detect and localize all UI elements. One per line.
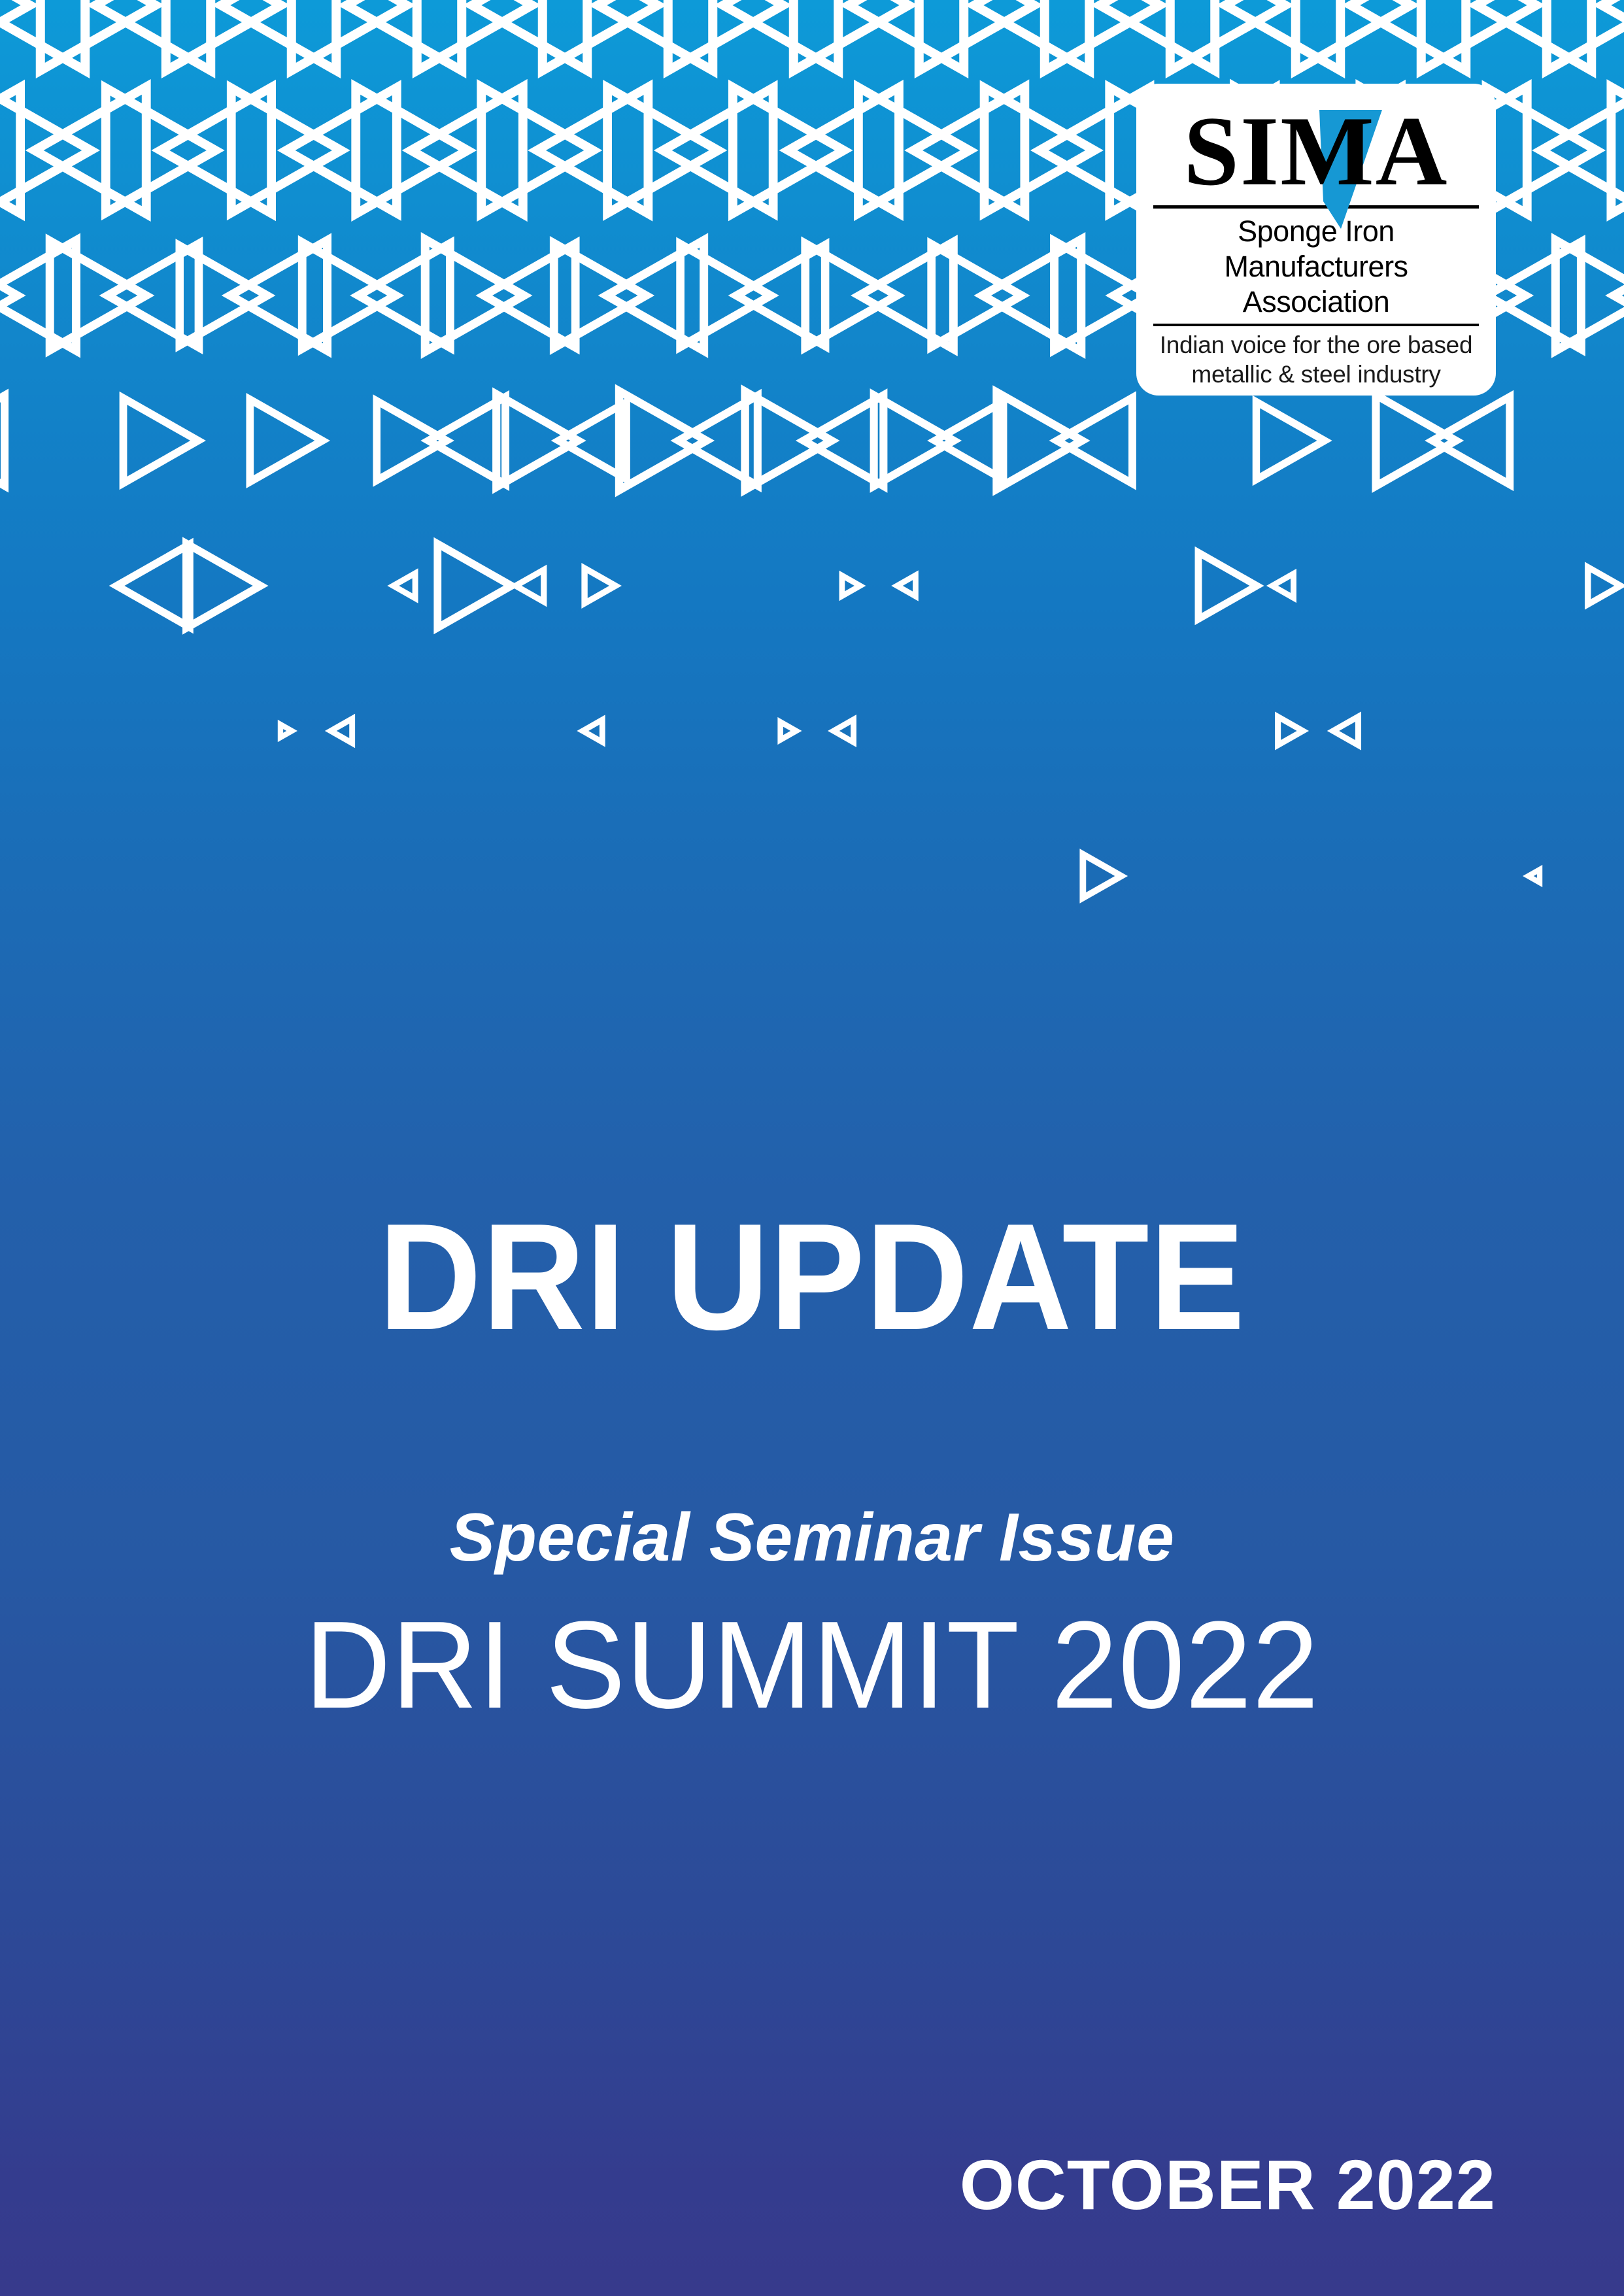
logo-tagline-line-2: metallic & steel industry (1191, 360, 1440, 389)
issue-label: Special Seminar Issue (0, 1504, 1624, 1572)
sima-letters: SIMA (1184, 102, 1449, 204)
logo-divider-bottom (1153, 324, 1479, 326)
sima-wordmark: SIMA (1153, 89, 1479, 204)
issue-date: OCTOBER 2022 (960, 2148, 1496, 2221)
logo-org-line-2: Association (1243, 284, 1390, 320)
logo-tagline-line-1: Indian voice for the ore based (1160, 330, 1473, 360)
publication-title: DRI UPDATE (49, 1202, 1576, 1353)
magazine-cover: SIMA Sponge Iron Manufacturers Associati… (0, 0, 1624, 2296)
sima-logo: SIMA Sponge Iron Manufacturers Associati… (1136, 84, 1496, 396)
event-title: DRI SUMMIT 2022 (33, 1603, 1592, 1727)
